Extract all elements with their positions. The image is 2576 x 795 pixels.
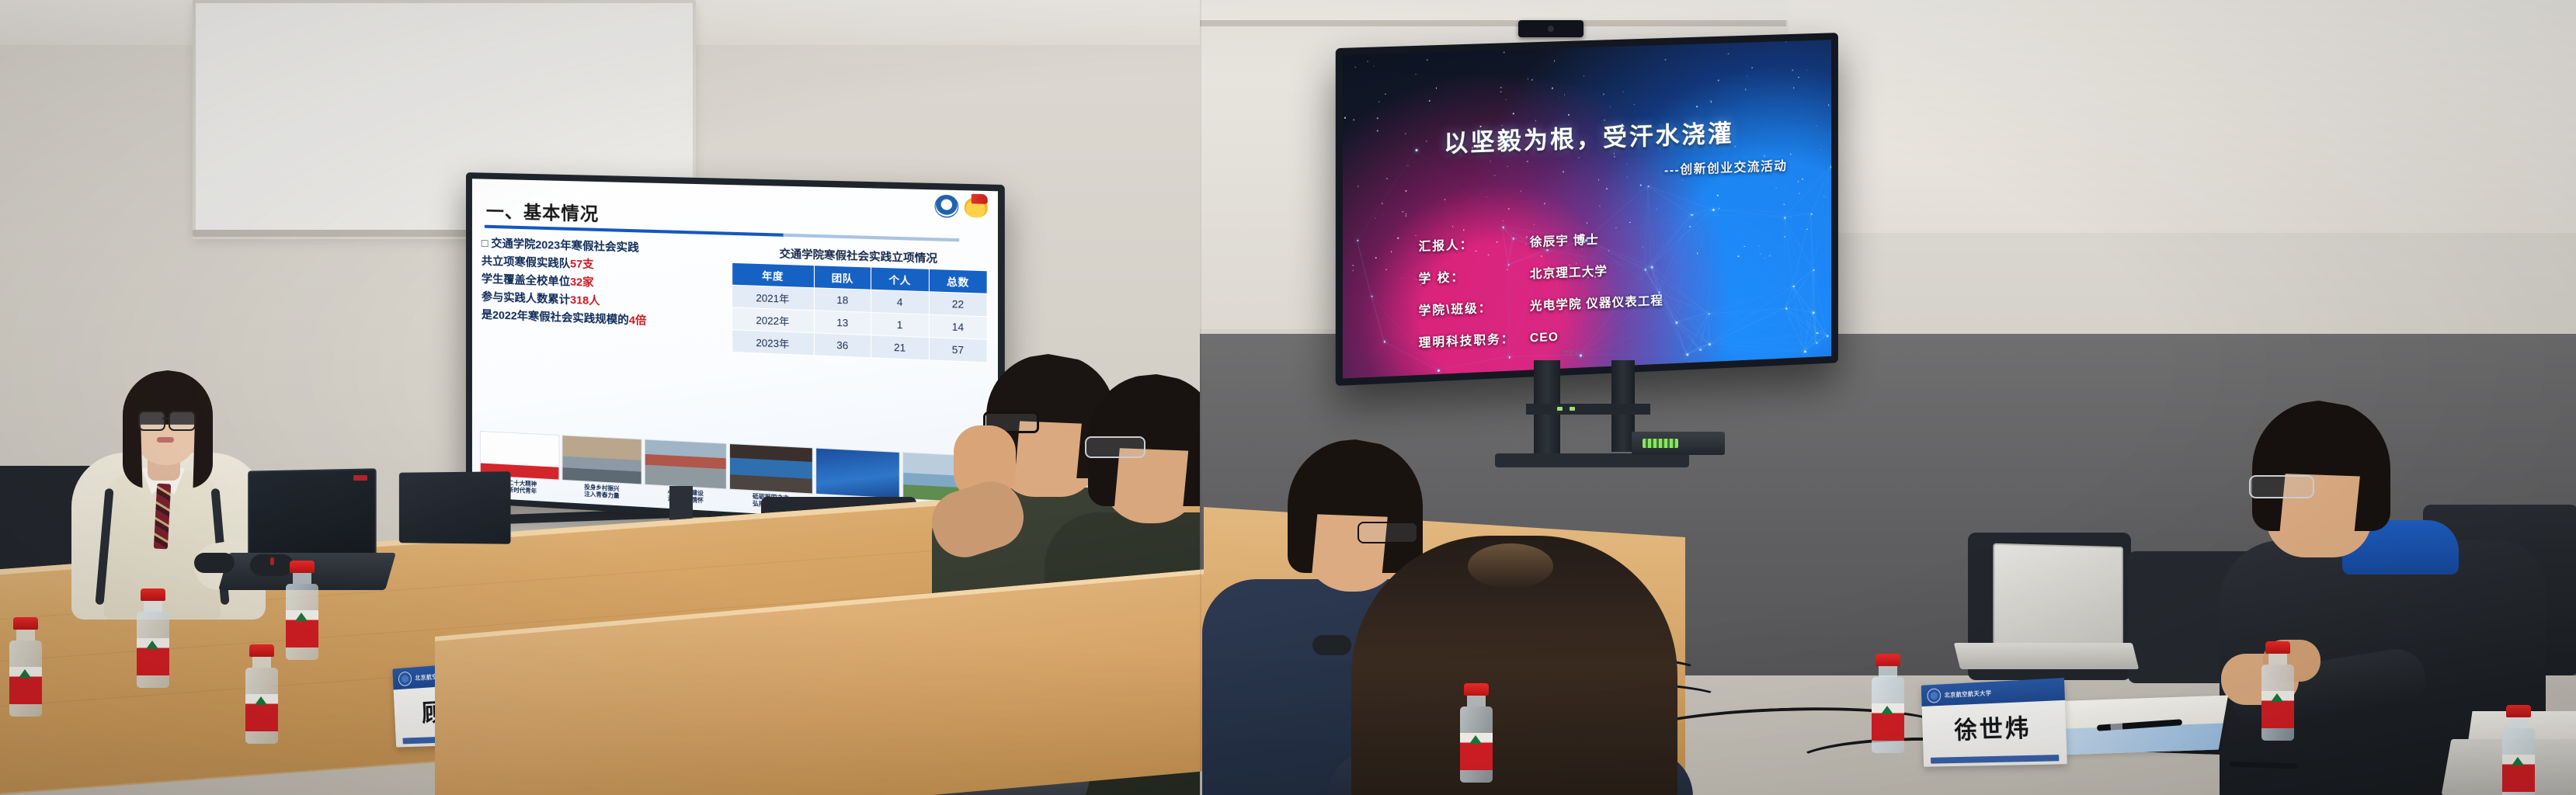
star-dot: [1769, 255, 1771, 257]
status-led-icon: [1570, 407, 1575, 411]
star-dot: [1783, 204, 1785, 206]
wall-panel: [1789, 0, 2576, 233]
panel-seam: [1200, 0, 1201, 795]
wall-ledge: [1200, 20, 1786, 26]
right-display-tv[interactable]: 以坚毅为根，受汗水浇灌 ---创新创业交流活动 汇报人： 徐辰宇 博士 学 校：…: [1336, 33, 1838, 386]
star-dot: [1386, 178, 1388, 179]
star-dot: [1614, 156, 1615, 158]
star-dot: [1494, 175, 1496, 176]
activity-photo: [729, 443, 813, 493]
water-bottle[interactable]: [1460, 683, 1493, 783]
star-dot: [1798, 77, 1799, 78]
star-dot: [1697, 106, 1698, 107]
youth-league-emblem-icon: [965, 196, 988, 217]
star-dot: [1416, 279, 1417, 280]
star-dot: [1437, 279, 1439, 280]
mouth: [157, 437, 174, 443]
laptop-screen[interactable]: [1993, 543, 2122, 651]
tv-stand-base: [1495, 453, 1689, 467]
star-dot: [1568, 114, 1570, 116]
water-bottle[interactable]: [9, 617, 42, 717]
star-dot: [1451, 149, 1452, 151]
column-header: 年度: [732, 262, 814, 287]
star-dot: [1377, 118, 1378, 120]
tv-brand-label: TCL: [1565, 351, 1580, 356]
computer-mouse[interactable]: [1312, 635, 1351, 655]
info-label: 汇报人：: [1419, 233, 1530, 255]
star-dot: [1406, 190, 1407, 192]
cell: 2021年: [732, 285, 814, 311]
star-dot: [1375, 257, 1377, 259]
photo-cell: 投身乡村振兴 注入青春力量: [561, 435, 642, 501]
cell: 36: [814, 333, 871, 358]
star-dot: [1771, 159, 1773, 161]
eyeglasses-icon: [1085, 436, 1145, 458]
slide-title: 以坚毅为根，受汗水浇灌: [1343, 110, 1831, 162]
nameplate-university: 北京航空航天大学: [1945, 689, 1992, 700]
star-dot: [1569, 265, 1570, 266]
network-link: [1708, 313, 1709, 343]
laptop-screen[interactable]: [248, 468, 376, 559]
star-dot: [1606, 188, 1608, 189]
cell: 1: [871, 312, 929, 337]
star-dot: [1544, 203, 1545, 205]
thinkpad-logo-icon: [353, 475, 367, 481]
column-header: 个人: [871, 267, 929, 292]
eyeglasses-icon: [138, 411, 196, 428]
star-dot: [1452, 226, 1454, 227]
star-dot: [1508, 208, 1510, 210]
water-bottle[interactable]: [2261, 641, 2294, 741]
star-dot: [1594, 276, 1596, 278]
column-header: 总数: [929, 269, 987, 293]
slide-subtitle: ---创新创业交流活动: [1664, 155, 1787, 179]
left-display[interactable]: 一、基本情况 □ 交通学院2023年寒假社会实践 共立项寒假实践队57支 学生覆…: [466, 172, 1005, 534]
webcam-icon: [1518, 20, 1583, 37]
star-dot: [1377, 130, 1378, 132]
water-bottle[interactable]: [1872, 654, 1904, 753]
star-dot: [1527, 161, 1528, 162]
cell: 2023年: [732, 330, 814, 356]
tv-screen: 以坚毅为根，受汗水浇灌 ---创新创业交流活动 汇报人： 徐辰宇 博士 学 校：…: [1343, 40, 1831, 378]
university-seal-icon: [398, 671, 412, 686]
star-dot: [1504, 52, 1505, 54]
star-dot: [1407, 165, 1409, 166]
star-dot: [1406, 215, 1407, 217]
star-dot: [1545, 141, 1546, 142]
status-led-icon: [1557, 407, 1563, 411]
star-dot: [1615, 227, 1617, 228]
star-dot: [1352, 269, 1354, 271]
star-dot: [1513, 113, 1514, 114]
column-header: 团队: [814, 266, 871, 290]
star-dot: [1718, 80, 1719, 82]
tv-stand-crossbar: [1526, 404, 1650, 415]
cell: 13: [814, 311, 871, 335]
university-emblem-icon: [935, 195, 959, 218]
star-dot: [1354, 67, 1356, 68]
university-seal-icon: [1927, 688, 1941, 703]
star-dot: [1802, 179, 1803, 180]
laptop-keyboard[interactable]: [1954, 643, 2139, 669]
star-dot: [1603, 94, 1604, 95]
info-label: 学 校：: [1419, 265, 1530, 286]
left-slide: 一、基本情况 □ 交通学院2023年寒假社会实践 共立项寒假实践队57支 学生覆…: [472, 179, 998, 527]
star-dot: [1397, 238, 1399, 239]
computer-mouse[interactable]: [194, 553, 235, 573]
person-attendee-woman-back: [1351, 536, 1677, 795]
left-display-screen: 一、基本情况 □ 交通学院2023年寒假社会实践 共立项寒假实践队57支 学生覆…: [472, 179, 998, 527]
star-dot: [1500, 87, 1502, 89]
water-bottle[interactable]: [286, 561, 318, 660]
star-dot: [1599, 206, 1601, 207]
cell: 18: [814, 288, 871, 313]
star-dot: [1640, 185, 1642, 186]
star-dot: [1587, 276, 1589, 278]
star-dot: [1764, 155, 1765, 157]
activity-photo: [645, 439, 727, 489]
star-dot: [1497, 241, 1498, 243]
media-player-box[interactable]: [1632, 432, 1725, 455]
star-dot: [1793, 88, 1795, 89]
slide-bullet-list: □ 交通学院2023年寒假社会实践 共立项寒假实践队57支 学生覆盖全校单位32…: [481, 235, 725, 352]
star-dot: [1429, 100, 1431, 102]
star-dot: [1472, 148, 1473, 149]
slide-logos: [935, 195, 988, 219]
star-dot: [1375, 217, 1376, 219]
star-dot: [1358, 186, 1359, 187]
photo-caption: 投身乡村振兴 注入青春力量: [561, 481, 642, 501]
screenshot-root: 一、基本情况 □ 交通学院2023年寒假社会实践 共立项寒假实践队57支 学生覆…: [0, 0, 2576, 795]
star-dot: [1353, 120, 1354, 121]
cell: 21: [871, 335, 929, 360]
star-dot: [1792, 70, 1794, 71]
activity-photo: [561, 435, 642, 484]
info-row: 学 校： 北京理工大学: [1419, 254, 1801, 286]
star-dot: [1665, 59, 1667, 61]
star-dot: [1344, 117, 1346, 119]
star-dot: [1737, 255, 1739, 257]
star-dot: [1798, 181, 1799, 182]
star-dot: [1552, 88, 1553, 89]
water-bottle[interactable]: [2502, 705, 2535, 795]
hair: [1351, 536, 1677, 795]
star-dot: [1488, 254, 1490, 255]
star-dot: [1378, 101, 1380, 102]
star-dot: [1563, 171, 1564, 172]
slide-section-title: 一、基本情况: [486, 196, 988, 237]
star-dot: [1479, 126, 1481, 127]
cell: 2022年: [732, 307, 814, 333]
cell: 4: [871, 290, 929, 314]
nameplate-name: 徐世炜: [1922, 700, 2067, 747]
star-dot: [1728, 53, 1730, 54]
star-dot: [1717, 195, 1719, 196]
laptop-screen[interactable]: [399, 471, 511, 544]
info-value: CEO: [1530, 331, 1559, 346]
star-dot: [1477, 148, 1479, 149]
water-bottle[interactable]: [137, 588, 169, 688]
nameplate-xu: 北京航空航天大学 徐世炜: [1921, 678, 2067, 767]
water-bottle[interactable]: [245, 644, 278, 744]
activity-photo: [815, 447, 900, 498]
eyeglasses-icon: [2249, 475, 2314, 498]
star-dot: [1828, 105, 1830, 106]
